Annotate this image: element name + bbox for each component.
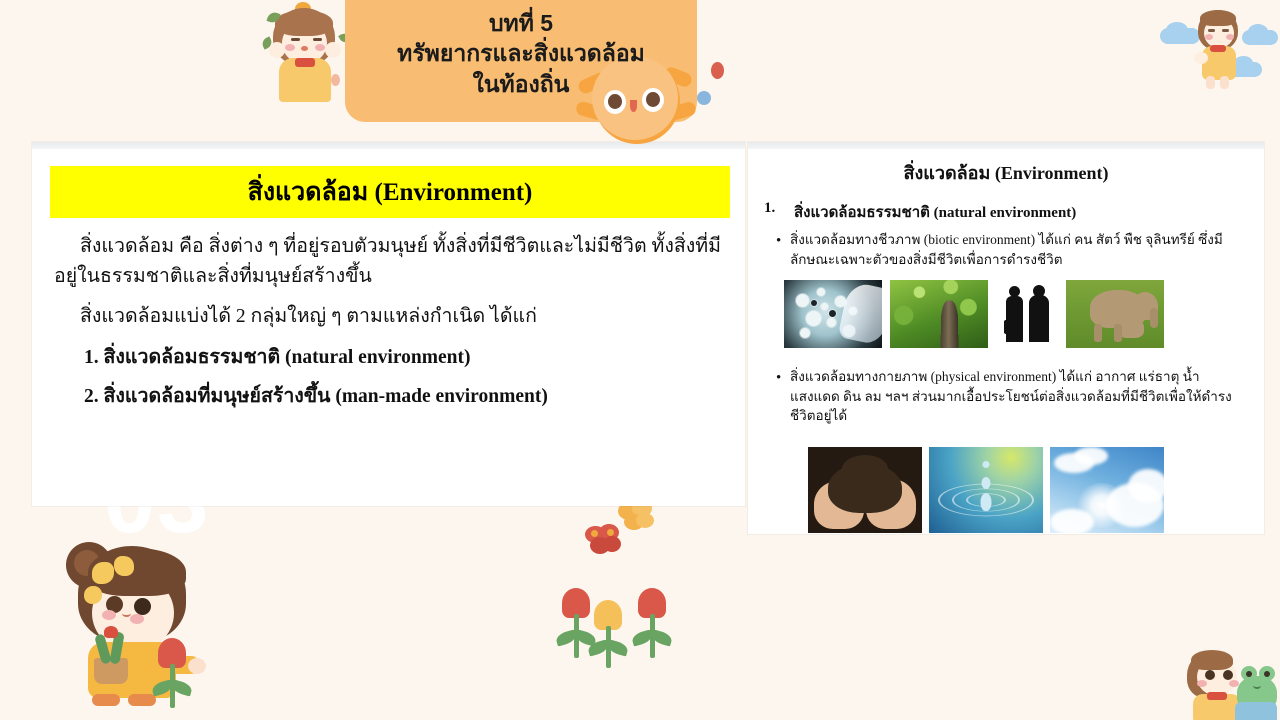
highlighted-heading-banner: สิ่งแวดล้อม (Environment) [50,166,730,218]
classification-paragraph: สิ่งแวดล้อมแบ่งได้ 2 กลุ่มใหญ่ ๆ ตามแหล่… [54,302,731,332]
definition-paragraph: สิ่งแวดล้อม คือ สิ่งต่าง ๆ ที่อยู่รอบตัว… [54,232,731,291]
slide-canvas: 03 [0,0,1280,720]
elephants-photo [1066,280,1164,348]
sky-sun-clouds-photo [1050,447,1164,533]
right-panel-item-title: สิ่งแวดล้อมธรรมชาติ (natural environment… [794,200,1252,224]
tulip-flowers-icon [588,600,628,670]
petri-dish-photo [784,280,882,348]
confetti-dot [331,74,340,86]
girl-with-plant-icon [58,538,238,713]
right-panel-item-number: 1. [764,200,775,217]
people-silhouettes-photo [996,280,1058,348]
right-content-panel: สิ่งแวดล้อม (Environment) 1. สิ่งแวดล้อม… [748,142,1264,534]
girl-with-frog-icon [1185,640,1280,720]
water-drop-photo [929,447,1043,533]
biotic-bullet: • สิ่งแวดล้อมทางชีวภาพ (biotic environme… [790,230,1248,269]
confetti-dot [711,62,724,79]
physical-bullet: • สิ่งแวดล้อมทางกายภาพ (physical environ… [790,367,1248,426]
forest-canopy-photo [890,280,988,348]
left-panel-heading: สิ่งแวดล้อม (Environment) [248,172,533,212]
biotic-image-row [784,280,1164,348]
tulip-flowers-icon [152,638,192,710]
list-item: 1. สิ่งแวดล้อมธรรมชาติ (natural environm… [84,343,731,373]
confetti-dot [697,91,711,105]
right-panel-heading: สิ่งแวดล้อม (Environment) [748,158,1264,187]
tulip-flowers-icon [632,588,672,660]
soil-in-hands-photo [808,447,922,533]
physical-image-row [808,447,1164,533]
girl-on-clouds-icon [1158,4,1278,104]
left-panel-body: สิ่งแวดล้อม คือ สิ่งต่าง ๆ ที่อยู่รอบตัว… [54,232,731,420]
chapter-title-text: บทที่ 5 ทรัพยากรและสิ่งแวดล้อม ในท้องถิ่… [345,8,697,99]
list-item: 2. สิ่งแวดล้อมที่มนุษย์สร้างขึ้น (man-ma… [84,382,731,412]
bullet-dot-icon: • [776,368,781,390]
panel-top-bar [748,142,1264,149]
bullet-dot-icon: • [776,231,781,253]
butterflies-icon [585,524,625,558]
left-content-panel: สิ่งแวดล้อม (Environment) สิ่งแวดล้อม คื… [32,142,745,506]
